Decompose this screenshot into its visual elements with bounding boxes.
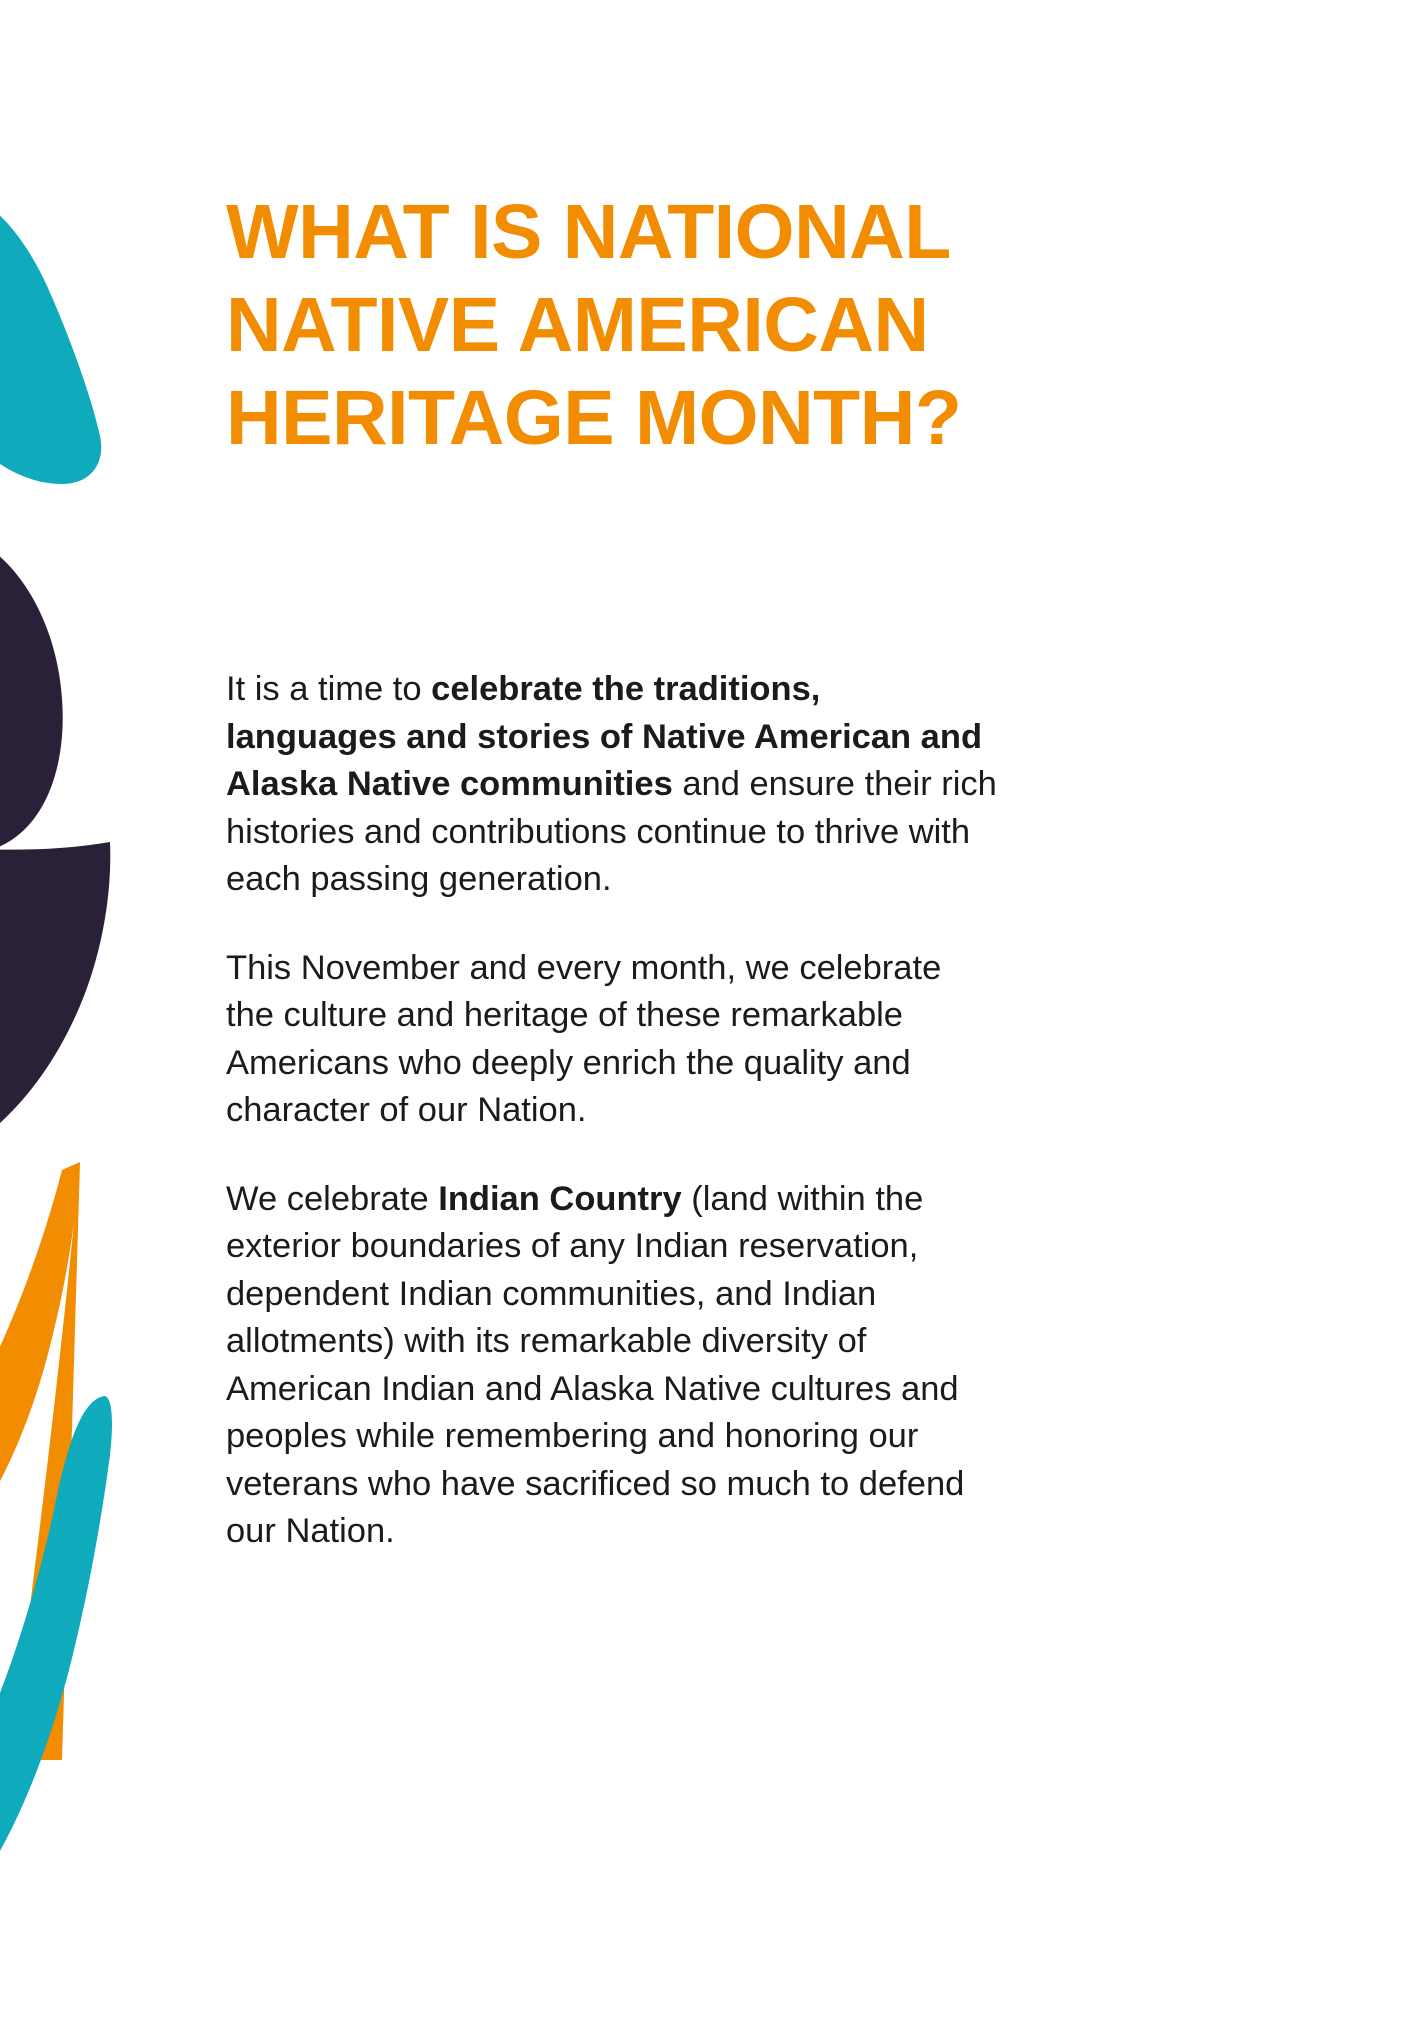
poster-page: WHAT IS NATIONALNATIVE AMERICANHERITAGE … (0, 0, 1428, 2018)
paragraph-3: We celebrate Indian Country (land within… (226, 1176, 998, 1556)
paragraph-2: This November and every month, we celebr… (226, 945, 998, 1135)
paragraph-3-run-3: (land within the exterior boundaries of … (226, 1180, 964, 1551)
paragraph-1-run-1: It is a time to (226, 670, 431, 708)
page-title-line-2: NATIVE AMERICAN (226, 282, 929, 368)
paragraph-3-run-2: Indian Country (438, 1180, 681, 1218)
teal-spike-icon (0, 1396, 112, 1972)
paragraph-3-run-1: We celebrate (226, 1180, 438, 1218)
navy-ring-icon (0, 528, 63, 854)
paragraph-1: It is a time to celebrate the traditions… (226, 666, 998, 904)
page-title-line-1: WHAT IS NATIONAL (226, 189, 951, 275)
orange-leaf-icon (0, 1162, 80, 1760)
paragraph-2-run-1: This November and every month, we celebr… (226, 949, 941, 1130)
page-title: WHAT IS NATIONALNATIVE AMERICANHERITAGE … (226, 186, 1236, 465)
decorative-artwork (0, 0, 230, 2018)
teal-petal-top-icon (0, 190, 101, 484)
page-title-line-3: HERITAGE MONTH? (226, 375, 961, 461)
body-copy: It is a time to celebrate the traditions… (226, 666, 998, 1556)
navy-crescent-icon (0, 840, 110, 1178)
